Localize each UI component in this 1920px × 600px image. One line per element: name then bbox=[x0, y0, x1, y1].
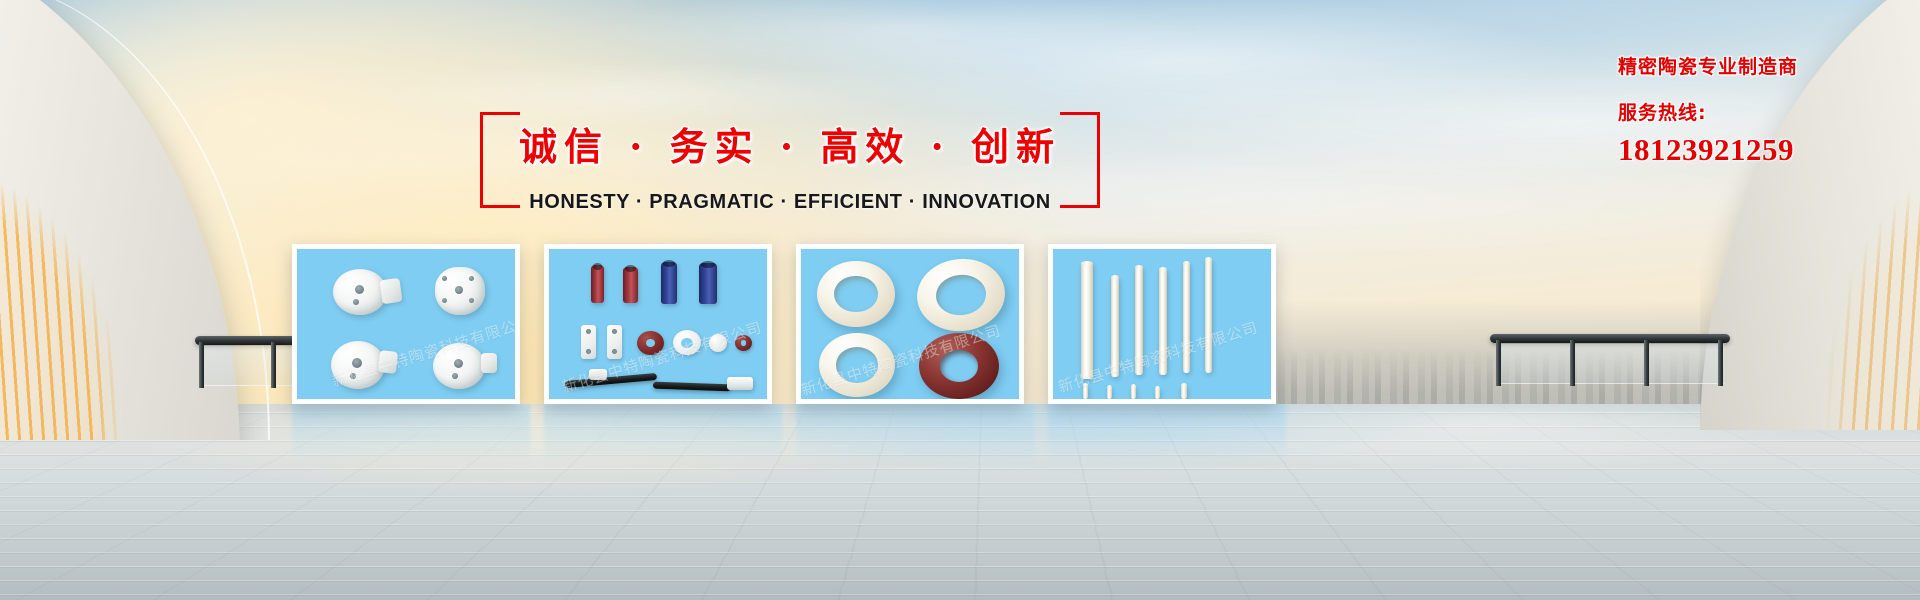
right-railing bbox=[1490, 334, 1730, 386]
panel-ceramic-rods[interactable]: 新化县中特陶瓷科技有限公司 bbox=[1048, 244, 1276, 404]
panel-ceramic-sleeves-and-gaskets[interactable]: 新化县中特陶瓷科技有限公司 bbox=[544, 244, 772, 404]
plaza-ground bbox=[0, 404, 1920, 600]
slogan-english: HONESTY · PRAGMATIC · EFFICIENT · INNOVA… bbox=[480, 191, 1100, 214]
panel-reflections bbox=[0, 404, 1920, 484]
slogan-block: 诚信 · 务实 · 高效 · 创新 HONESTY · PRAGMATIC · … bbox=[480, 112, 1100, 208]
panel-ceramic-valve-bodies[interactable]: 新化县中特陶瓷科技有限公司 bbox=[292, 244, 520, 404]
hotline-label: 服务热线: bbox=[1618, 98, 1858, 125]
slogan-chinese: 诚信 · 务实 · 高效 · 创新 bbox=[480, 116, 1100, 171]
contact-block: 精密陶瓷专业制造商 服务热线: 18123921259 bbox=[1618, 52, 1858, 168]
hotline-number[interactable]: 18123921259 bbox=[1618, 132, 1858, 168]
panel-ceramic-rings[interactable]: 新化县中特陶瓷科技有限公司 bbox=[796, 244, 1024, 404]
product-panel-row: 新化县中特陶瓷科技有限公司 bbox=[292, 244, 1276, 404]
hero-banner: 诚信 · 务实 · 高效 · 创新 HONESTY · PRAGMATIC · … bbox=[0, 0, 1920, 600]
company-tagline: 精密陶瓷专业制造商 bbox=[1618, 52, 1858, 79]
